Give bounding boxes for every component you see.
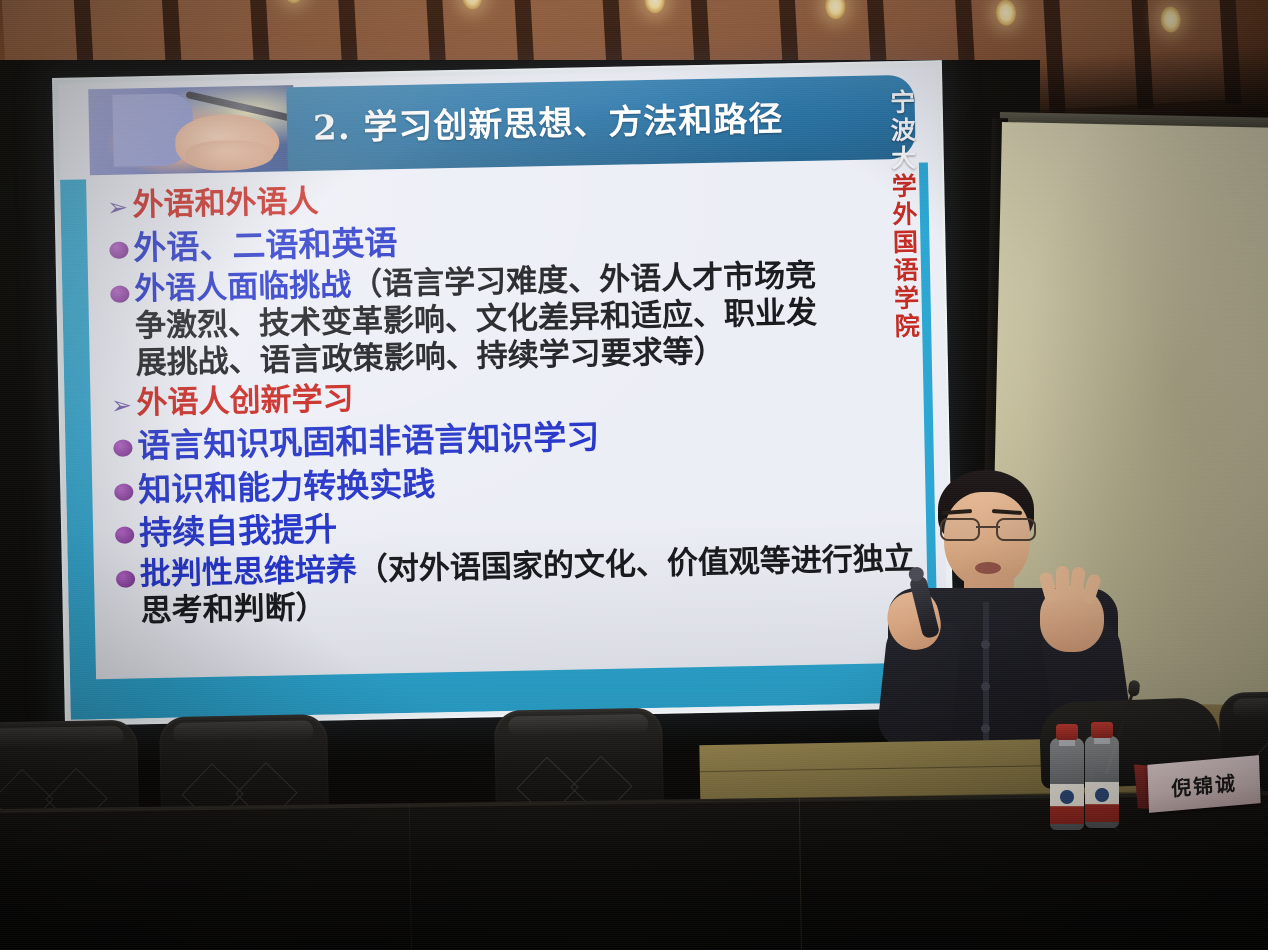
slide-bullet-text: 持续自我提升 bbox=[139, 509, 338, 555]
slide-bullet-dot-6: 批判性思维培养（对外语国家的文化、价值观等进行独立思考和判断） bbox=[110, 541, 917, 632]
dot-bullet-icon bbox=[104, 271, 135, 303]
slide-title: 2. 学习创新思想、方法和路径 bbox=[287, 102, 784, 146]
gesturing-hand bbox=[1040, 586, 1104, 652]
dot-bullet-icon bbox=[107, 426, 138, 458]
eyeglasses-icon bbox=[940, 518, 1036, 538]
slide-bullet-text: 外语和外语人 bbox=[132, 183, 319, 226]
slide-bullet-dot-2: 外语人面临挑战（语言学习难度、外语人才市场竞争激烈、技术变革影响、文化差异和适应… bbox=[104, 255, 912, 383]
dot-bullet-icon bbox=[108, 469, 139, 501]
arrow-bullet-icon: ➢ bbox=[106, 385, 137, 419]
name-placard: 倪锦诚 bbox=[1147, 755, 1260, 813]
institution-vertical-text: 宁波大学外国语学院 bbox=[874, 89, 919, 342]
slide-paragraph: 外语人面临挑战（语言学习难度、外语人才市场竞争激烈、技术变革影响、文化差异和适应… bbox=[134, 257, 836, 383]
placard-name-text: 倪锦诚 bbox=[1171, 767, 1238, 802]
slide-paragraph-lead: 批判性思维培养 bbox=[140, 552, 358, 592]
slide-bullet-text: 知识和能力转换实践 bbox=[138, 463, 436, 511]
institution-text-red: 学外国语学院 bbox=[888, 173, 920, 342]
dot-bullet-icon bbox=[103, 227, 134, 259]
dot-bullet-icon bbox=[110, 556, 141, 588]
slide-bullet-text: 外语人创新学习 bbox=[136, 380, 354, 423]
arrow-bullet-icon: ➢ bbox=[102, 186, 133, 220]
slide-paragraph: 批判性思维培养（对外语国家的文化、价值观等进行独立思考和判断） bbox=[140, 541, 917, 631]
water-bottle bbox=[1050, 738, 1084, 830]
slide-body: ➢ 外语和外语人 外语、二语和英语 外语人面临挑战（语言学习难度、外语人才市场竞… bbox=[94, 167, 918, 677]
slide-bullet-text: 语言知识巩固和非语言知识学习 bbox=[137, 416, 600, 467]
slide-title-bar: 2. 学习创新思想、方法和路径 bbox=[286, 75, 916, 172]
slide-header-image bbox=[88, 85, 295, 175]
slide-bullet-text: 外语、二语和英语 bbox=[133, 222, 398, 269]
projection-screen: 2. 学习创新思想、方法和路径 宁波大学外国语学院 ➢ 外语和外语人 外语、二语… bbox=[52, 60, 955, 726]
lecture-hall-photo: 2. 学习创新思想、方法和路径 宁波大学外国语学院 ➢ 外语和外语人 外语、二语… bbox=[0, 0, 1268, 950]
dot-bullet-icon bbox=[109, 513, 140, 545]
presentation-slide: 2. 学习创新思想、方法和路径 宁波大学外国语学院 ➢ 外语和外语人 外语、二语… bbox=[58, 66, 949, 719]
slide-paragraph-lead: 外语人面临挑战 bbox=[134, 267, 352, 307]
institution-text-white: 宁波大 bbox=[886, 89, 917, 174]
water-bottle bbox=[1085, 736, 1119, 828]
